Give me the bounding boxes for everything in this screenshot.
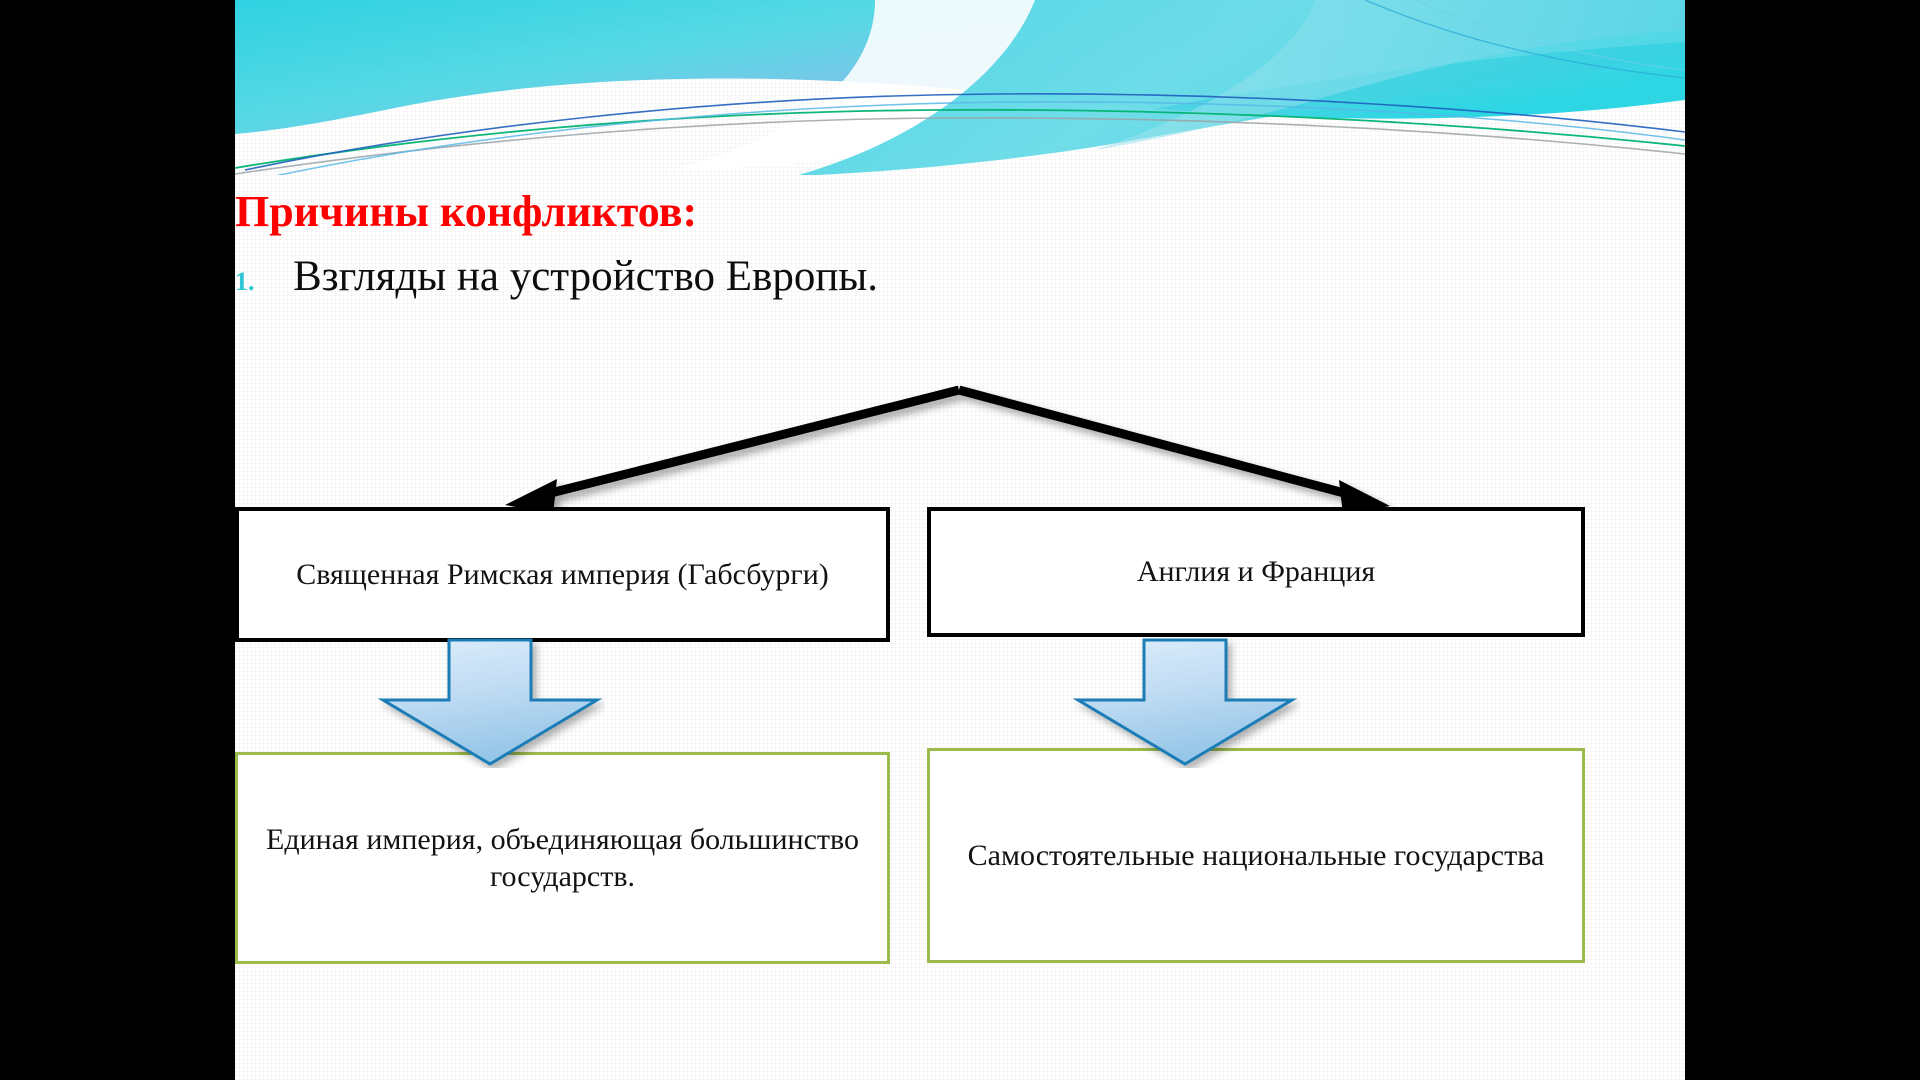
- presentation-slide: Причины конфликтов: 1. Взгляды на устрой…: [235, 0, 1685, 1080]
- bullet-list-item-1: 1. Взгляды на устройство Европы.: [235, 252, 878, 301]
- screen-root: Причины конфликтов: 1. Взгляды на устрой…: [0, 0, 1920, 1080]
- node-box-label: Священная Римская империя (Габсбурги): [282, 556, 843, 594]
- bullet-number: 1.: [235, 267, 293, 297]
- block-arrow-down-left: [375, 638, 605, 768]
- node-box-label: Единая империя, объединяющая большинство…: [238, 821, 887, 896]
- node-box-england-france[interactable]: Англия и Франция: [927, 507, 1585, 637]
- page-title: Причины конфликтов:: [235, 186, 1685, 237]
- slide-content: Причины конфликтов: 1. Взгляды на устрой…: [235, 0, 1685, 1080]
- node-box-unified-empire[interactable]: Единая империя, объединяющая большинство…: [235, 752, 890, 964]
- node-box-holy-roman-empire[interactable]: Священная Римская империя (Габсбурги): [235, 507, 890, 642]
- node-box-label: Англия и Франция: [1123, 553, 1389, 591]
- node-box-national-states[interactable]: Самостоятельные национальные государства: [927, 748, 1585, 963]
- bullet-text: Взгляды на устройство Европы.: [293, 252, 878, 301]
- page-title-wrap: Причины конфликтов:: [235, 186, 1685, 237]
- node-box-label: Самостоятельные национальные государства: [954, 837, 1559, 875]
